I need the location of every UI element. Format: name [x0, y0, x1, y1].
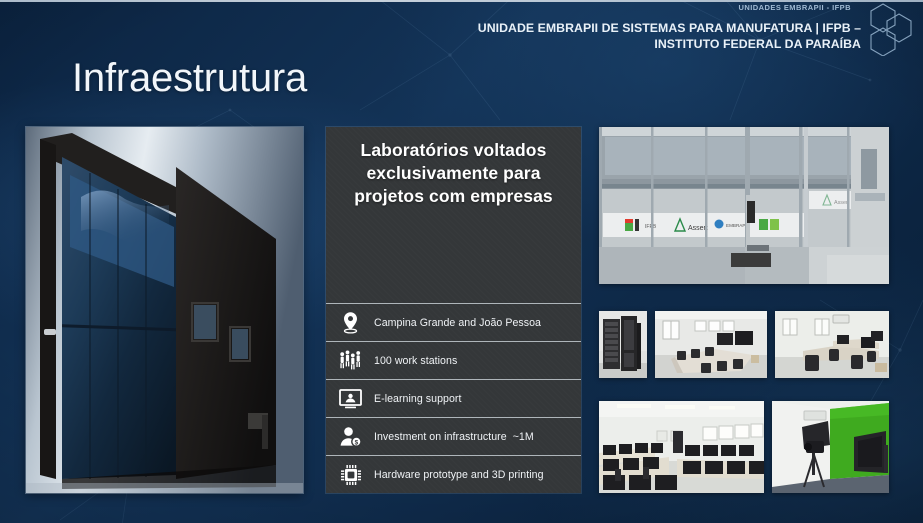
- panel-heading-line2: exclusivamente para: [366, 163, 540, 183]
- microchip-icon: [338, 462, 363, 487]
- computer-lab-photo: [599, 401, 764, 493]
- list-item[interactable]: E-learning support: [326, 379, 581, 417]
- glass-entrance-photo: IFPB Assert EMBRAPII Assert: [599, 127, 889, 284]
- svg-text:$: $: [355, 439, 359, 446]
- work-stations-icon: [338, 348, 363, 373]
- hexagon-cluster-logo-icon: [853, 2, 917, 56]
- list-item[interactable]: $ Investment on infrastructure ~1M: [326, 417, 581, 455]
- investment-icon: $: [338, 424, 363, 449]
- list-item-label: Investment on infrastructure ~1M: [374, 431, 534, 443]
- panel-heading: Laboratórios voltados exclusivamente par…: [326, 127, 581, 303]
- e-learning-icon: [338, 386, 363, 411]
- list-item[interactable]: Hardware prototype and 3D printing: [326, 455, 581, 493]
- list-item[interactable]: Campina Grande and João Pessoa: [326, 303, 581, 341]
- list-item-label: 100 work stations: [374, 355, 457, 367]
- map-pin-icon: [338, 310, 363, 335]
- workstations-room-photo: [775, 311, 889, 378]
- panel-heading-line3: projetos com empresas: [354, 186, 553, 206]
- svg-text:IFPB: IFPB: [645, 224, 657, 230]
- list-item-label: Campina Grande and João Pessoa: [374, 317, 541, 329]
- header-eyebrow: UNIDADES EMBRAPII - IFPB: [739, 3, 851, 12]
- svg-text:EMBRAPII: EMBRAPII: [726, 223, 748, 228]
- panel-heading-line1: Laboratórios voltados: [361, 140, 547, 160]
- server-racks-photo: [599, 311, 647, 378]
- list-item-label: E-learning support: [374, 393, 461, 405]
- black-building-facade-photo: [26, 127, 303, 493]
- list-item-label: Hardware prototype and 3D printing: [374, 469, 544, 481]
- info-panel: Laboratórios voltados exclusivamente par…: [326, 127, 581, 493]
- svg-text:Assert: Assert: [688, 225, 708, 232]
- header-headline-line2: INSTITUTO FEDERAL DA PARAÍBA: [301, 36, 861, 52]
- panel-feature-list: Campina Grande and João Pessoa: [326, 303, 581, 493]
- slide-root: UNIDADES EMBRAPII - IFPB UNIDADE EMBRAPI…: [0, 0, 923, 523]
- green-screen-studio-photo: [772, 401, 889, 493]
- meeting-room-photo: [655, 311, 767, 378]
- header-headline-line1: UNIDADE EMBRAPII DE SISTEMAS PARA MANUFA…: [478, 21, 861, 35]
- list-item[interactable]: 100 work stations: [326, 341, 581, 379]
- header-headline: UNIDADE EMBRAPII DE SISTEMAS PARA MANUFA…: [301, 20, 861, 52]
- slide-header: UNIDADES EMBRAPII - IFPB UNIDADE EMBRAPI…: [0, 0, 923, 60]
- page-title: Infraestrutura: [72, 56, 307, 100]
